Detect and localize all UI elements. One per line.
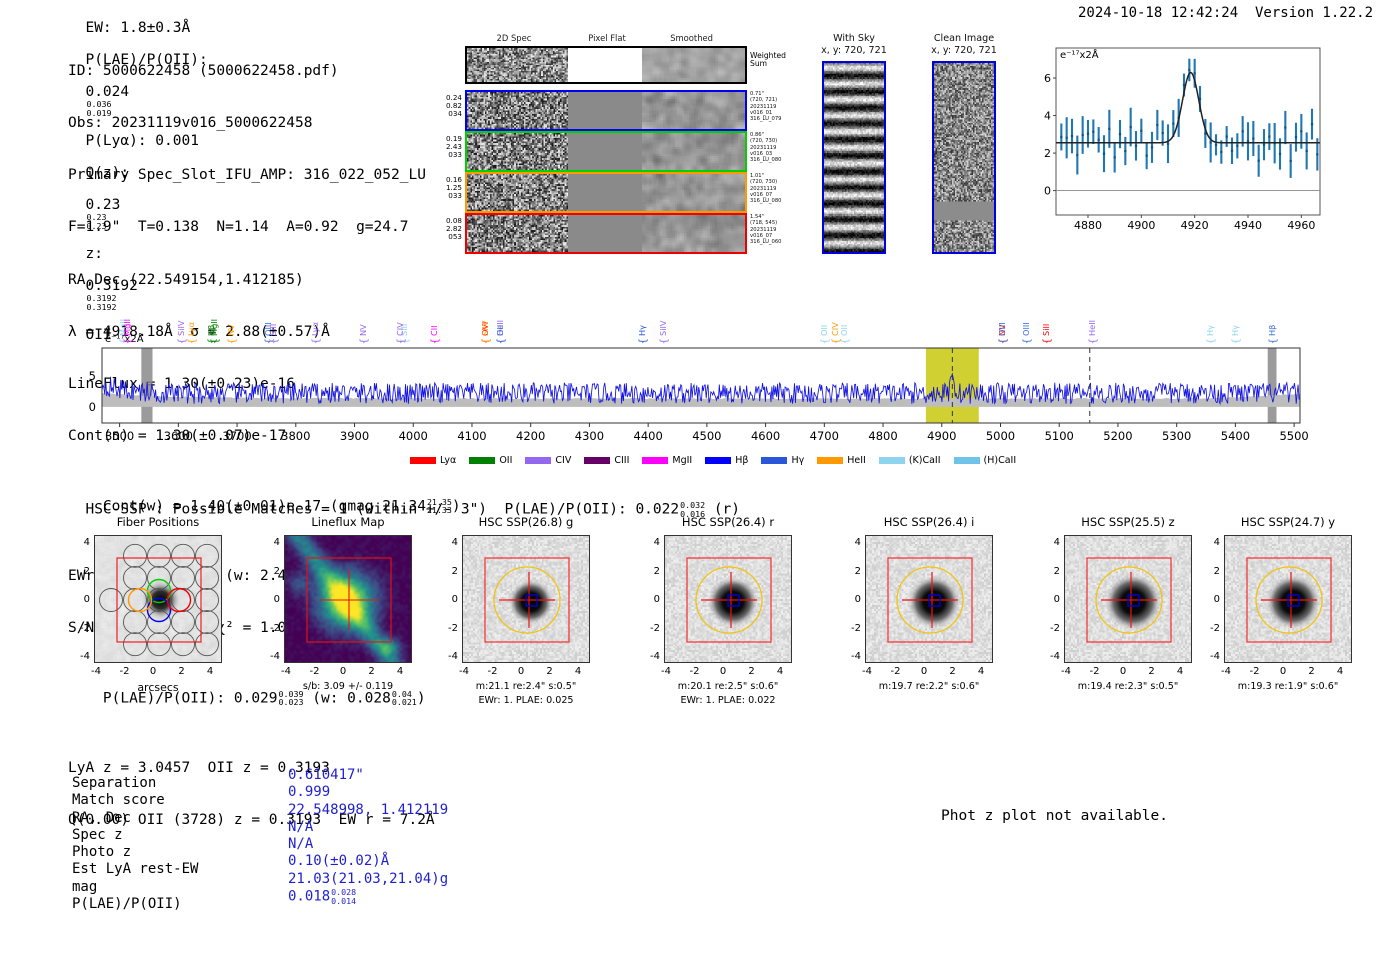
- spectrum-legend-label-(K)CaII: (K)CaII: [909, 455, 941, 466]
- spectrum-line-brace-25: {: [1022, 338, 1033, 344]
- cutout-panel-1-caption-1: s/b: 3.09 +/- 0.119: [252, 681, 444, 692]
- spectrum-line-brace-26: {: [1042, 338, 1053, 344]
- cutout-panel-5-ytick-4: 4: [1038, 537, 1060, 548]
- spectrum-legend-swatch-Hγ: [761, 457, 787, 464]
- cutout-panel-6-ytick-1: -2: [1198, 623, 1220, 634]
- spectrum-legend-label-CIII: CIII: [614, 455, 629, 466]
- svg-text:3800: 3800: [281, 429, 310, 443]
- cutout-panel-5-ytick-3: 2: [1038, 566, 1060, 577]
- spectrum-line-label-MgII-1: MgII: [123, 279, 131, 336]
- spectrum-line-label-SiII-8: SiII: [269, 306, 277, 336]
- spectrum-line-label-Hβ-5: Hβ: [207, 279, 215, 336]
- full-spectrum-plot: 0535003600370038003900400041004200430044…: [60, 275, 1350, 475]
- match-table-value-2: 22.548998, 1.412119: [288, 802, 448, 819]
- svg-text:4900: 4900: [927, 429, 956, 443]
- match-table-value-5: 0.10(±0.02)Å: [288, 853, 389, 870]
- cutout-panel-6-ytick-3: 2: [1198, 566, 1220, 577]
- spectrum-legend-swatch-CIII: [584, 457, 610, 464]
- spec2d-row-1-flat: [568, 133, 642, 170]
- svg-text:4960: 4960: [1287, 219, 1315, 232]
- emission-line-profile-plot: 024648804900492049404960e⁻¹⁷x2Å: [1030, 40, 1340, 265]
- spectrum-line-label-SiIV-19: SiIV: [659, 306, 667, 336]
- cutout-panel-1-ytick-0: -4: [258, 651, 280, 662]
- spectrum-legend-item-HeII: HeII: [817, 455, 866, 466]
- svg-text:5400: 5400: [1221, 429, 1250, 443]
- spec2d-row-0-flat: [568, 92, 642, 129]
- cutout-panel-5-ytick-2: 0: [1038, 594, 1060, 605]
- spectrum-line-label-Hβ-30: Hβ: [1268, 306, 1276, 336]
- spectrum-line-label-OII-20: OII: [820, 306, 828, 336]
- cutout-panel-5-xtick-1: -2: [1085, 666, 1105, 677]
- cutout-panel-5-xtick-4: 4: [1170, 666, 1190, 677]
- spec2d-row-3: [465, 213, 747, 254]
- spec2d-panel-group: 2D SpecPixel FlatSmoothedWeighted Sum0.2…: [440, 33, 780, 261]
- cutout-clean-image-title: Clean Image: [918, 33, 1010, 45]
- sky-clean-panel-group: With Skyx, y: 720, 721Clean Imagex, y: 7…: [810, 33, 1040, 258]
- spec2d-row-3-smoothed: [642, 215, 745, 252]
- cutout-panel-1-ytick-2: 0: [258, 594, 280, 605]
- spectrum-legend-swatch-(H)CaII: [954, 457, 980, 464]
- cutout-with-sky-coords: x, y: 720, 721: [808, 45, 900, 57]
- svg-text:4100: 4100: [457, 429, 486, 443]
- cutout-panel-3-xtick-1: -2: [685, 666, 705, 677]
- lineflux-overlay: [285, 536, 412, 663]
- cutout-panel-4-title: HSC SSP(26.4) i: [833, 515, 1025, 529]
- cutout-panel-6: HSC SSP(24.7) yNE-4-4-2-2002244m:19.3 re…: [1192, 515, 1384, 730]
- cutout-panel-0-xtick-1: -2: [115, 666, 135, 677]
- match-table-value-3: N/A: [288, 819, 313, 836]
- spec2d-row-2-flat: [568, 174, 642, 211]
- spectrum-line-label-NV-6: NV: [227, 306, 235, 336]
- spectrum-line-label-OII-17: OII: [496, 279, 504, 336]
- cutout-panel-3-ytick-1: -2: [638, 623, 660, 634]
- cutout-overlay-6: [1225, 536, 1352, 663]
- svg-text:4880: 4880: [1074, 219, 1102, 232]
- spectrum-line-brace-20: {: [820, 338, 831, 344]
- spectrum-legend-item-(K)CaII: (K)CaII: [879, 455, 941, 466]
- cutout-panel-6-xtick-4: 4: [1330, 666, 1350, 677]
- spec2d-row-3-right-labels: 1.54" (718, 545) 20231119 v016_07 316_LU…: [750, 214, 781, 245]
- spectrum-legend-swatch-OII: [469, 457, 495, 464]
- cutout-panel-2-ytick-1: -2: [436, 623, 458, 634]
- spec2d-row-1: [465, 131, 747, 172]
- cutout-panel-3: HSC SSP(26.4) rNE-4-4-2-2002244m:20.1 re…: [632, 515, 824, 730]
- spectrum-line-label-Lyα-3: Lyα: [187, 306, 195, 336]
- cutout-panel-2-xtick-0: -4: [454, 666, 474, 677]
- spec2d-row-3-2dspec: [467, 215, 568, 252]
- spectrum-line-label-NV-10: NV: [359, 306, 367, 336]
- spec2d-col-title-0: 2D Spec: [491, 33, 537, 43]
- cutout-panel-2-caption-2: EWr: 1. PLAE: 0.025: [430, 695, 622, 706]
- info-primary-spec: Primary Spec_Slot_IFU_AMP: 316_022_052_L…: [68, 167, 461, 184]
- cutout-panel-6-xtick-1: -2: [1245, 666, 1265, 677]
- cutout-panel-5-image: [1064, 535, 1192, 663]
- cutout-panel-4-xtick-4: 4: [971, 666, 991, 677]
- spectrum-legend-item-Lyα: Lyα: [410, 455, 456, 466]
- cutout-panel-4-xtick-3: 2: [943, 666, 963, 677]
- spectrum-legend-label-OII: OII: [499, 455, 512, 466]
- svg-text:4600: 4600: [751, 429, 780, 443]
- cutout-panel-6-xtick-0: -4: [1216, 666, 1236, 677]
- cutout-panel-0-ytick-0: -4: [68, 651, 90, 662]
- spec2d-row-3-left-labels: 0.08 2.82 053: [440, 217, 462, 242]
- info-id: ID: 5000622458 (5000622458.pdf): [68, 63, 461, 80]
- spectrum-line-label-Hγ-29: Hγ: [1231, 306, 1239, 336]
- cutout-panel-3-xtick-3: 2: [742, 666, 762, 677]
- spectrum-line-brace-28: {: [1206, 338, 1217, 344]
- cutout-panel-5-ytick-1: -2: [1038, 623, 1060, 634]
- svg-text:4700: 4700: [810, 429, 839, 443]
- spectrum-line-brace-27: {: [1088, 338, 1099, 344]
- svg-text:3600: 3600: [164, 429, 193, 443]
- spec2d-weighted-sum-label: Weighted Sum: [750, 52, 786, 68]
- match-table-value-6: 21.03(21.03,21.04)g: [288, 871, 448, 888]
- cutout-panel-3-title: HSC SSP(26.4) r: [632, 515, 824, 529]
- spectrum-legend-swatch-(K)CaII: [879, 457, 905, 464]
- spectrum-line-label-SiIV-2: SiIV: [177, 306, 185, 336]
- match-table-key-0: Separation: [72, 775, 156, 792]
- cutout-panel-0-title: Fiber Positions: [62, 515, 254, 529]
- cutout-panel-4-caption-1: m:19.7 re:2.2" s:0.6": [833, 681, 1025, 692]
- cutout-panel-4-xtick-1: -2: [886, 666, 906, 677]
- match-table-value-7: 0.0180.0280.014: [288, 888, 356, 906]
- cutout-panel-0-ytick-4: 4: [68, 537, 90, 548]
- cutout-panel-6-caption-1: m:19.3 re:1.9" s:0.6": [1192, 681, 1384, 692]
- spectrum-line-label-SiIV-15: SiIV: [481, 279, 489, 336]
- cutout-panel-3-ytick-0: -4: [638, 651, 660, 662]
- svg-text:4900: 4900: [1127, 219, 1155, 232]
- photz-not-available-note: Phot z plot not available.: [941, 808, 1168, 824]
- cutout-panel-4: HSC SSP(26.4) iNE-4-4-2-2002244m:19.7 re…: [833, 515, 1025, 730]
- spectrum-line-label-CIV-21: CIV: [831, 306, 839, 336]
- spec2d-row-0-right-labels: 0.71" (720, 721) 20231119 v016_01 316_LU…: [750, 91, 781, 122]
- svg-text:4000: 4000: [399, 429, 428, 443]
- cutout-panel-2-xtick-3: 2: [540, 666, 560, 677]
- cutout-panel-2-ytick-2: 0: [436, 594, 458, 605]
- cutout-panel-0-xtick-3: 2: [172, 666, 192, 677]
- hsc-ssp-header: HSC-SSP : Possible Matches = 1 (within +…: [68, 485, 740, 518]
- spec2d-row-0-left-labels: 0.24 0.82 034: [440, 94, 462, 119]
- cutout-panel-2-xtick-4: 4: [568, 666, 588, 677]
- spectrum-legend-label-Hβ: Hβ: [735, 455, 748, 466]
- cutout-panel-0: Fiber PositionsNE-4-4-2-2002244arcsecs: [62, 515, 254, 730]
- svg-text:4300: 4300: [575, 429, 604, 443]
- cutout-panel-2-image: [462, 535, 590, 663]
- spec2d-ws-smoothed: [642, 48, 745, 82]
- spectrum-line-brace-30: {: [1268, 338, 1279, 344]
- cutout-panel-0-image: [94, 535, 222, 663]
- spectrum-line-brace-17: {: [496, 338, 507, 344]
- spectrum-line-brace-8: {: [269, 338, 280, 344]
- spectrum-legend-item-Hβ: Hβ: [705, 455, 748, 466]
- svg-text:2: 2: [1044, 147, 1051, 160]
- spectrum-line-brace-22: {: [840, 338, 851, 344]
- spec2d-row-2-right-labels: 1.01" (720, 730) 20231119 v016_07 316_LU…: [750, 173, 781, 204]
- match-table-value-1: 0.999: [288, 784, 330, 801]
- spectrum-legend-swatch-Lyα: [410, 457, 436, 464]
- match-table-key-3: Spec z: [72, 827, 123, 844]
- cutout-with-sky-title: With Sky: [808, 33, 900, 45]
- spectrum-legend-item-Hγ: Hγ: [761, 455, 804, 466]
- cutout-panel-5-xtick-2: 0: [1113, 666, 1133, 677]
- spec2d-row-1-right-labels: 0.86" (720, 730) 20231119 v016_03 316_LU…: [750, 132, 781, 163]
- spectrum-legend-item-MgII: MgII: [642, 455, 692, 466]
- cutout-panel-2-caption-1: m:21.1 re:2.4" s:0.5": [430, 681, 622, 692]
- fiber-overlay: [95, 536, 222, 663]
- cutout-panel-2-xtick-2: 0: [511, 666, 531, 677]
- cutout-panel-0-xlabel: arcsecs: [62, 681, 254, 694]
- cutout-clean-image-image: [932, 61, 996, 254]
- svg-text:5000: 5000: [986, 429, 1015, 443]
- spec2d-ws-2dspec: [467, 48, 568, 82]
- spec2d-row-1-2dspec: [467, 133, 568, 170]
- cutout-panel-2-ytick-0: -4: [436, 651, 458, 662]
- spectrum-line-brace-29: {: [1231, 338, 1242, 344]
- match-table-key-6: mag: [72, 879, 97, 896]
- cutout-panel-6-xtick-2: 0: [1273, 666, 1293, 677]
- cutout-panel-6-xtick-3: 2: [1302, 666, 1322, 677]
- svg-text:4200: 4200: [516, 429, 545, 443]
- cutout-panel-3-xtick-0: -4: [656, 666, 676, 677]
- cutout-panel-5-xtick-3: 2: [1142, 666, 1162, 677]
- spec2d-col-title-2: Smoothed: [669, 33, 715, 43]
- cutout-panel-6-ytick-0: -4: [1198, 651, 1220, 662]
- cutout-panel-4-image: [865, 535, 993, 663]
- svg-text:5: 5: [89, 369, 96, 383]
- cutout-panel-3-ytick-4: 4: [638, 537, 660, 548]
- spectrum-line-label-Hγ-28: Hγ: [1206, 306, 1214, 336]
- header-datetime-version: 2024-10-18 12:42:24 Version 1.22.2: [1078, 5, 1373, 21]
- spec2d-row-0-2dspec: [467, 92, 568, 129]
- spectrum-legend-label-(H)CaII: (H)CaII: [984, 455, 1017, 466]
- spectrum-line-brace-12: {: [396, 338, 407, 344]
- cutout-panel-0-xtick-2: 0: [143, 666, 163, 677]
- spec2d-row-0: [465, 90, 747, 131]
- cutout-panel-4-ytick-3: 2: [839, 566, 861, 577]
- spectrum-line-label-HeII-27: HeII: [1088, 306, 1096, 336]
- spectrum-line-brace-18: {: [638, 338, 649, 344]
- svg-text:6: 6: [1044, 72, 1051, 85]
- cutout-panel-3-ytick-2: 0: [638, 594, 660, 605]
- spectrum-line-label-OII-22: OII: [840, 306, 848, 336]
- svg-text:4500: 4500: [692, 429, 721, 443]
- match-table-key-7: P(LAE)/P(OII): [72, 896, 182, 913]
- spectrum-line-brace-1: {: [123, 338, 134, 344]
- spec2d-col-title-1: Pixel Flat: [584, 33, 630, 43]
- cutout-with-sky-image: [822, 61, 886, 254]
- spectrum-legend-swatch-HeII: [817, 457, 843, 464]
- svg-text:3900: 3900: [340, 429, 369, 443]
- spec2d-row-2: [465, 172, 747, 213]
- cutout-panel-4-ytick-4: 4: [839, 537, 861, 548]
- cutout-panel-0-ytick-2: 0: [68, 594, 90, 605]
- cutout-clean-image-coords: x, y: 720, 721: [918, 45, 1010, 57]
- cutout-panel-0-xtick-0: -4: [86, 666, 106, 677]
- cutout-panel-6-ytick-2: 0: [1198, 594, 1220, 605]
- spectrum-line-label-OIII-25: OIII: [1022, 306, 1030, 336]
- lineprofile-svg: 024648804900492049404960: [1030, 40, 1340, 260]
- match-table-key-2: RA, Dec: [72, 810, 131, 827]
- cutout-panel-4-xtick-0: -4: [857, 666, 877, 677]
- cutout-panel-1-title: Lineflux Map: [252, 515, 444, 529]
- cutout-panel-3-ytick-3: 2: [638, 566, 660, 577]
- spec2d-row-2-2dspec: [467, 174, 568, 211]
- cutout-panel-1: Lineflux MapNE-4-4-2-2002244s/b: 3.09 +/…: [252, 515, 444, 730]
- match-table-value-0: 0.610417": [288, 767, 364, 784]
- spectrum-line-brace-19: {: [659, 338, 670, 344]
- spectrum-legend-swatch-Hβ: [705, 457, 731, 464]
- cutout-panel-4-ytick-2: 0: [839, 594, 861, 605]
- spectrum-line-label-OIII-24: OIII: [998, 279, 1006, 336]
- spectrum-legend-label-HeII: HeII: [847, 455, 866, 466]
- cutout-overlay-4: [866, 536, 993, 663]
- cutout-panel-2-ytick-3: 2: [436, 566, 458, 577]
- cutout-panel-1-ytick-4: 4: [258, 537, 280, 548]
- cutout-overlay-2: [463, 536, 590, 663]
- spectrum-legend-label-MgII: MgII: [672, 455, 692, 466]
- spectrum-line-brace-24: {: [998, 338, 1009, 344]
- svg-text:0: 0: [1044, 185, 1051, 198]
- cutout-panel-2-ytick-4: 4: [436, 537, 458, 548]
- cutout-panel-4-xtick-2: 0: [914, 666, 934, 677]
- svg-text:5100: 5100: [1045, 429, 1074, 443]
- cutout-panel-4-ytick-0: -4: [839, 651, 861, 662]
- spectrum-line-brace-6: {: [227, 338, 238, 344]
- spec2d-row-3-flat: [568, 215, 642, 252]
- cutout-panel-5-xtick-0: -4: [1056, 666, 1076, 677]
- cutout-panel-3-caption-2: EWr: 1. PLAE: 0.022: [632, 695, 824, 706]
- svg-text:4400: 4400: [634, 429, 663, 443]
- spectrum-legend-item-OII: OII: [469, 455, 512, 466]
- spectrum-line-brace-15: {: [481, 338, 492, 344]
- spec2d-weighted-sum-row: [465, 46, 747, 84]
- spectrum-legend-label-Hγ: Hγ: [791, 455, 804, 466]
- cutout-panel-2-title: HSC SSP(26.8) g: [430, 515, 622, 529]
- spectrum-legend-swatch-CIV: [525, 457, 551, 464]
- match-table-plae-range: 0.0280.014: [331, 888, 356, 905]
- svg-text:4: 4: [1044, 110, 1051, 123]
- cutout-panel-1-xtick-4: 4: [390, 666, 410, 677]
- cutout-panel-1-xtick-0: -4: [276, 666, 296, 677]
- spectrum-line-label-SiII-26: SiII: [1042, 306, 1050, 336]
- svg-text:3700: 3700: [222, 429, 251, 443]
- cutout-overlay-3: [665, 536, 792, 663]
- spectrum-legend-label-Lyα: Lyα: [440, 455, 456, 466]
- svg-text:5500: 5500: [1279, 429, 1308, 443]
- cutout-panel-2: HSC SSP(26.8) gNE-4-4-2-2002244m:21.1 re…: [430, 515, 622, 730]
- info-obs: Obs: 20231119v016_5000622458: [68, 115, 461, 132]
- spectrum-line-label-Hγ-18: Hγ: [638, 306, 646, 336]
- spectrum-line-brace-9: {: [311, 338, 322, 344]
- cutout-panel-0-ytick-3: 2: [68, 566, 90, 577]
- svg-text:3500: 3500: [105, 429, 134, 443]
- spec2d-row-2-smoothed: [642, 174, 745, 211]
- spectrum-legend-swatch-MgII: [642, 457, 668, 464]
- cutout-panel-6-ytick-4: 4: [1198, 537, 1220, 548]
- cutout-panel-0-ytick-1: -2: [68, 623, 90, 634]
- spectrum-line-brace-3: {: [187, 338, 198, 344]
- svg-text:4940: 4940: [1234, 219, 1262, 232]
- cutout-panel-3-image: [664, 535, 792, 663]
- spectrum-line-brace-5: {: [207, 338, 218, 344]
- svg-text:0: 0: [89, 400, 96, 414]
- spec2d-row-1-smoothed: [642, 133, 745, 170]
- cutout-panel-1-xtick-3: 2: [362, 666, 382, 677]
- cutout-panel-1-xtick-2: 0: [333, 666, 353, 677]
- spectrum-line-label-CII-13: CII: [430, 306, 438, 336]
- spectrum-legend-item-CIII: CIII: [584, 455, 629, 466]
- cutout-panel-3-caption-1: m:20.1 re:2.5" s:0.6": [632, 681, 824, 692]
- spec2d-row-0-smoothed: [642, 92, 745, 129]
- match-table-key-5: Est LyA rest-EW: [72, 861, 198, 878]
- spec2d-ws-flat: [568, 48, 642, 82]
- svg-text:4800: 4800: [868, 429, 897, 443]
- cutout-panel-3-xtick-2: 0: [713, 666, 733, 677]
- cutout-panel-1-image: [284, 535, 412, 663]
- match-table-key-4: Photo z: [72, 844, 131, 861]
- spectrum-legend-label-CIV: CIV: [555, 455, 571, 466]
- match-table-key-1: Match score: [72, 792, 165, 809]
- cutout-overlay-5: [1065, 536, 1192, 663]
- svg-text:5200: 5200: [1103, 429, 1132, 443]
- spec2d-row-1-left-labels: 0.19 2.43 033: [440, 135, 462, 160]
- cutout-panel-1-xtick-1: -2: [305, 666, 325, 677]
- cutout-panel-6-image: [1224, 535, 1352, 663]
- spectrum-svg: 0535003600370038003900400041004200430044…: [60, 275, 1350, 475]
- lineprofile-units-label: e⁻¹⁷x2Å: [1060, 50, 1099, 61]
- info-seeing: F=1.9" T=0.138 N=1.14 A=0.92 g=24.7: [68, 219, 461, 236]
- cutout-panel-4-ytick-1: -2: [839, 623, 861, 634]
- cutout-panel-2-xtick-1: -2: [483, 666, 503, 677]
- match-table-value-4: N/A: [288, 836, 313, 853]
- spectrum-line-brace-13: {: [430, 338, 441, 344]
- cutout-panel-1-ytick-3: 2: [258, 566, 280, 577]
- spectrum-legend-item-(H)CaII: (H)CaII: [954, 455, 1017, 466]
- spec2d-row-2-left-labels: 0.16 1.25 033: [440, 176, 462, 201]
- cutout-panel-3-xtick-4: 4: [770, 666, 790, 677]
- spectrum-line-brace-10: {: [359, 338, 370, 344]
- cutout-panel-6-title: HSC SSP(24.7) y: [1192, 515, 1384, 529]
- svg-text:4920: 4920: [1181, 219, 1209, 232]
- spectrum-legend-item-CIV: CIV: [525, 455, 571, 466]
- cutout-panel-1-ytick-1: -2: [258, 623, 280, 634]
- cutout-panel-5-ytick-0: -4: [1038, 651, 1060, 662]
- spectrum-line-label-Lyα-9: Lyα: [311, 306, 319, 336]
- spectrum-line-label-CIV-12: CIV: [396, 306, 404, 336]
- spectrum-legend: LyαOIICIVCIIIMgIIHβHγHeII(K)CaII(H)CaII: [410, 455, 1016, 466]
- cutout-panel-0-xtick-4: 4: [200, 666, 220, 677]
- svg-text:5300: 5300: [1162, 429, 1191, 443]
